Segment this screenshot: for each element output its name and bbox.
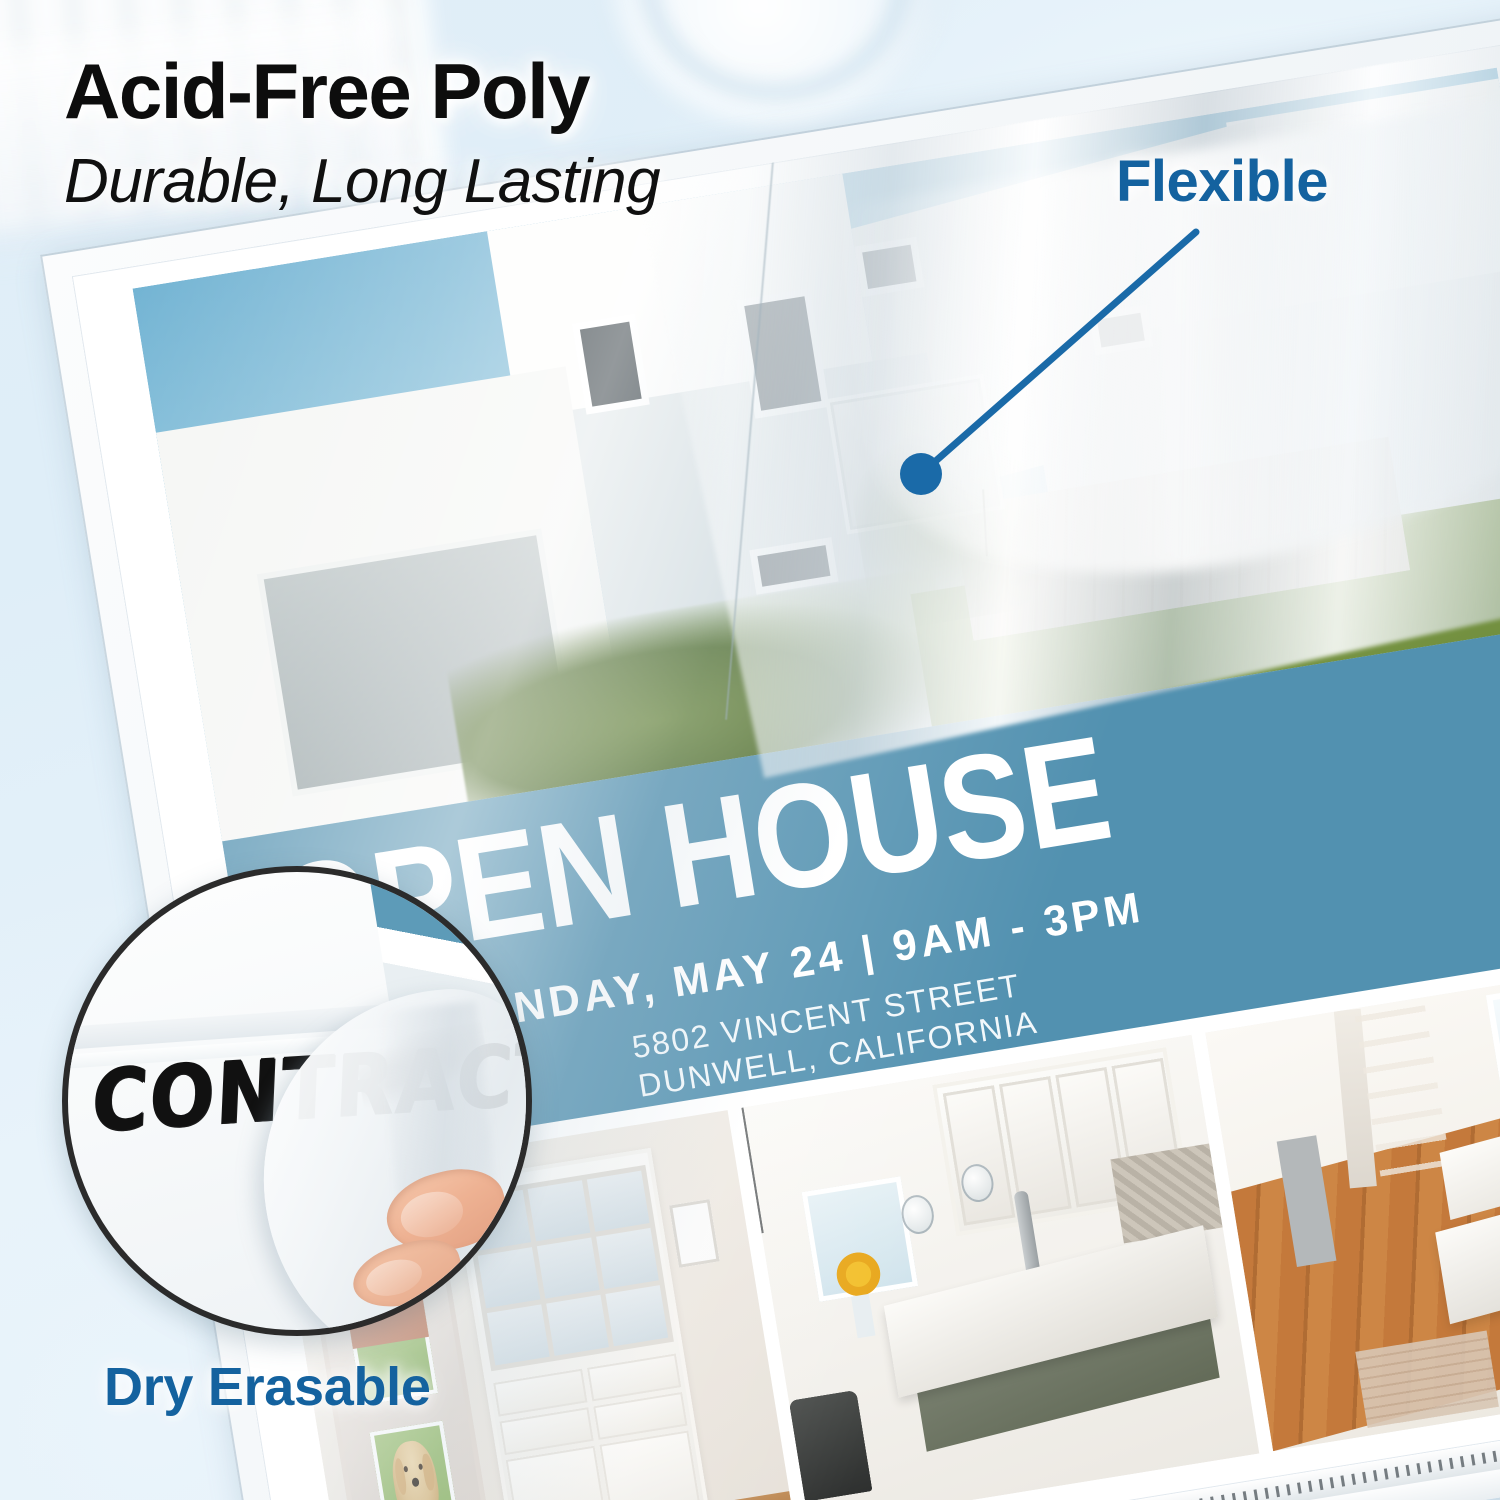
dog: [388, 1438, 443, 1500]
cabinet-door: [506, 1445, 610, 1500]
dog-ear: [393, 1457, 408, 1495]
shelf-cell: [546, 1295, 609, 1356]
shelf-cell: [587, 1171, 650, 1232]
dog-ear: [421, 1453, 436, 1491]
door-glass-lower: [370, 1421, 458, 1500]
label-dry-erasable: Dry Erasable: [104, 1356, 431, 1418]
shelf-cell: [537, 1238, 600, 1299]
page-subheadline: Durable, Long Lasting: [64, 146, 660, 217]
fingernail: [362, 1254, 426, 1302]
dog-eye: [404, 1466, 409, 1472]
dry-erase-detail-circle: CONTRACT: [62, 866, 532, 1336]
interior-photo-kitchen-island: [741, 1035, 1259, 1500]
shelf-cell: [528, 1180, 591, 1241]
fingernail: [396, 1186, 467, 1243]
shelf-cell: [596, 1228, 659, 1289]
label-flexible: Flexible: [1116, 148, 1328, 215]
cabinet-door: [599, 1430, 703, 1500]
shelf-cell: [605, 1286, 668, 1347]
promo-stage: OPEN HOUSE SUNDAY, MAY 24 | 9AM - 3PM 58…: [0, 0, 1500, 1500]
cabinet-drawers: [494, 1354, 704, 1500]
backsplash: [1110, 1144, 1223, 1244]
interior-photo-kitchen-wood: [1205, 962, 1500, 1451]
dog-nose: [412, 1477, 420, 1487]
tree-stem: [982, 489, 988, 556]
page-headline: Acid-Free Poly: [64, 52, 589, 132]
